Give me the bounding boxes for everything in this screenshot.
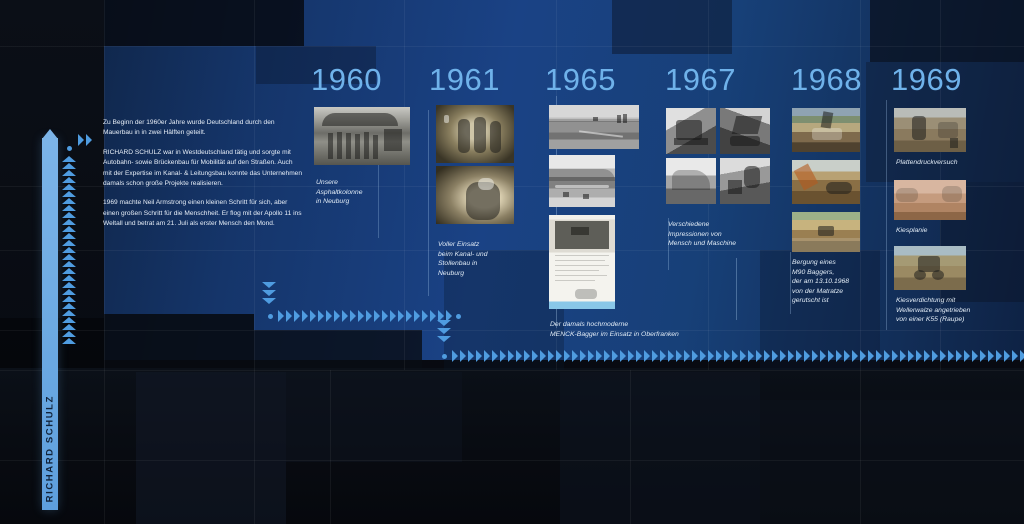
connector-line-1968 xyxy=(790,252,791,314)
chevron-right-icon xyxy=(500,350,506,362)
intro-paragraph-3: 1969 machte Neil Armstrong einen kleinen… xyxy=(103,198,303,229)
chevron-down-icon xyxy=(262,290,276,296)
chevron-right-icon xyxy=(764,350,770,362)
chevron-right-icon xyxy=(548,350,554,362)
chevron-up-icon xyxy=(62,191,76,197)
chevron-up-icon xyxy=(62,282,76,288)
chevron-right-icon xyxy=(628,350,634,362)
brand-bar-label: RICHARD SCHULZ xyxy=(45,395,56,502)
chevron-right-icon xyxy=(684,350,690,362)
chevron-right-icon xyxy=(940,350,946,362)
photo-1969-kiesverdichtung xyxy=(894,246,966,290)
chevron-right-icon xyxy=(868,350,874,362)
chevron-right-icon xyxy=(452,350,458,362)
chevron-right-icon xyxy=(692,350,698,362)
chevron-right-icon xyxy=(516,350,522,362)
connector-line-1967 xyxy=(736,258,737,320)
chevron-up-icon xyxy=(62,247,76,253)
chevron-right-icon xyxy=(406,310,412,322)
chevron-right-icon xyxy=(286,310,292,322)
photo-1967-d xyxy=(720,158,770,204)
caption-1965: Der damals hochmoderne MENCK-Bagger im E… xyxy=(550,320,740,339)
chevron-right-icon xyxy=(956,350,962,362)
chevron-right-icon xyxy=(476,350,482,362)
photo-1961-stollenbau-a xyxy=(436,105,514,163)
chevron-right-icon xyxy=(636,350,642,362)
chevron-up-icon xyxy=(62,219,76,225)
chevron-right-icon xyxy=(422,310,428,322)
intro-text-block: Zu Beginn der 1960er Jahre wurde Deutsch… xyxy=(103,118,303,239)
chevron-right-icon xyxy=(460,350,466,362)
chevron-right-icon xyxy=(302,310,308,322)
chevron-right-icon xyxy=(668,350,674,362)
chevron-right-icon xyxy=(700,350,706,362)
caption-1960: Unsere Asphaltkolonne in Neuburg xyxy=(316,178,416,207)
photo-1965-landschaft xyxy=(549,155,615,207)
chevron-up-icon xyxy=(62,303,76,309)
photo-1968-c xyxy=(792,212,860,252)
bg-panel xyxy=(560,372,760,524)
timeline-path-down-1 xyxy=(262,282,276,306)
chevron-right-icon xyxy=(900,350,906,362)
chevron-right-icon xyxy=(996,350,1002,362)
chevron-right-icon xyxy=(390,310,396,322)
year-label-1961: 1961 xyxy=(429,62,500,98)
chevron-right-icon xyxy=(294,310,300,322)
timeline-path-run-2 xyxy=(442,350,1024,362)
chevron-right-icon xyxy=(398,310,404,322)
chevron-up-icon xyxy=(62,170,76,176)
photo-1968-a xyxy=(792,108,860,152)
chevron-right-icon xyxy=(796,350,802,362)
chevron-up-icon xyxy=(62,233,76,239)
chevron-down-icon xyxy=(437,320,451,326)
chevron-right-icon xyxy=(948,350,954,362)
chevron-up-icon xyxy=(62,156,76,162)
photo-1969-plattendruckversuch xyxy=(894,108,966,152)
chevron-right-icon xyxy=(924,350,930,362)
chevron-right-icon xyxy=(732,350,738,362)
chevron-right-icon xyxy=(876,350,882,362)
year-label-1967: 1967 xyxy=(665,62,736,98)
photo-1967-c xyxy=(666,158,716,204)
year-label-1965: 1965 xyxy=(545,62,616,98)
chevron-right-icon xyxy=(1020,350,1024,362)
photo-1967-a xyxy=(666,108,716,154)
chevron-right-icon xyxy=(772,350,778,362)
chevron-up-icon xyxy=(62,184,76,190)
timeline-infographic: RICHARD SCHULZ Z xyxy=(0,0,1024,524)
chevron-right-icon xyxy=(1004,350,1010,362)
timeline-dot xyxy=(442,354,447,359)
chevron-right-icon xyxy=(358,310,364,322)
chevron-up-icon xyxy=(62,324,76,330)
timeline-dot xyxy=(456,314,461,319)
chevron-right-icon xyxy=(860,350,866,362)
chevron-right-icon xyxy=(756,350,762,362)
chevron-right-icon xyxy=(278,310,284,322)
chevron-right-icon xyxy=(580,350,586,362)
chevron-right-icon xyxy=(484,350,490,362)
chevron-down-icon xyxy=(437,328,451,334)
chevron-right-icon xyxy=(334,310,340,322)
chevron-right-icon xyxy=(326,310,332,322)
chevron-up-icon xyxy=(62,212,76,218)
chevron-up-icon xyxy=(62,254,76,260)
brand-bar-arrow-icon xyxy=(42,129,58,139)
chevron-right-icon xyxy=(892,350,898,362)
chevron-right-icon xyxy=(836,350,842,362)
caption-1961: Voller Einsatz beim Kanal- und Stollenba… xyxy=(438,240,548,278)
chevron-dot xyxy=(67,146,72,151)
chevron-right-icon xyxy=(468,350,474,362)
bg-panel xyxy=(286,372,462,462)
chevron-right-icon xyxy=(374,310,380,322)
chevron-right-icon xyxy=(524,350,530,362)
photo-1961-stollenbau-b xyxy=(436,166,514,224)
bg-panel xyxy=(870,0,1024,62)
chevron-right-icon xyxy=(980,350,986,362)
bg-panel xyxy=(136,372,286,524)
chevron-right-icon xyxy=(366,310,372,322)
chevron-up-icon xyxy=(62,289,76,295)
chevron-up-icon xyxy=(62,310,76,316)
chevron-right-icon xyxy=(350,310,356,322)
chevron-right-icon xyxy=(932,350,938,362)
year-label-1969: 1969 xyxy=(891,62,962,98)
timeline-dot xyxy=(268,314,273,319)
photo-1965-autobahn xyxy=(549,105,639,149)
chevron-right-icon xyxy=(318,310,324,322)
chevron-right-icon xyxy=(652,350,658,362)
chevron-right-icon xyxy=(556,350,562,362)
caption-1969-kiesplanie: Kiesplanie xyxy=(896,226,1016,236)
chevron-right-icon xyxy=(988,350,994,362)
chevron-right-icon xyxy=(508,350,514,362)
caption-1969-kiesverdichtung: Kiesverdichtung mit Wellerwalze angetrie… xyxy=(896,296,1020,325)
year-label-1960: 1960 xyxy=(311,62,382,98)
chevron-up-icon xyxy=(62,275,76,281)
chevron-up-icon xyxy=(62,338,76,344)
chevron-right-icon xyxy=(660,350,666,362)
chevron-right-icon xyxy=(78,134,84,146)
brand-bar-richard-schulz: RICHARD SCHULZ xyxy=(42,138,58,510)
chevron-right-icon xyxy=(916,350,922,362)
chevron-up-icon xyxy=(62,261,76,267)
chevron-right-icon xyxy=(430,310,436,322)
chevron-right-icon xyxy=(708,350,714,362)
chevron-right-icon xyxy=(1012,350,1018,362)
chevron-up-icon xyxy=(62,296,76,302)
chevron-up-icon xyxy=(62,331,76,337)
chevron-down-icon xyxy=(437,336,451,342)
chevron-right-icon xyxy=(604,350,610,362)
chevron-right-icon xyxy=(644,350,650,362)
chevron-right-icon xyxy=(804,350,810,362)
timeline-path-down-2 xyxy=(437,320,451,344)
chevron-right-icon xyxy=(844,350,850,362)
connector-line-1961 xyxy=(428,110,429,296)
caption-1967: Verschiedene Impressionen von Mensch und… xyxy=(668,220,788,249)
chevron-right-icon xyxy=(588,350,594,362)
intro-paragraph-2: RICHARD SCHULZ war in Westdeutschland tä… xyxy=(103,148,303,190)
photo-1968-b xyxy=(792,160,860,204)
chevron-right-icon xyxy=(964,350,970,362)
chevron-right-icon xyxy=(828,350,834,362)
chevron-right-icon xyxy=(86,134,92,146)
chevron-right-icon xyxy=(788,350,794,362)
chevron-up-icon xyxy=(62,268,76,274)
chevron-right-icon xyxy=(676,350,682,362)
intro-paragraph-1: Zu Beginn der 1960er Jahre wurde Deutsch… xyxy=(103,118,303,139)
chevron-right-icon xyxy=(820,350,826,362)
chevron-up-icon xyxy=(62,163,76,169)
photo-1967-b xyxy=(720,108,770,154)
chevron-right-icon xyxy=(780,350,786,362)
chevron-right-icon xyxy=(572,350,578,362)
caption-1969-plattendruckversuch: Plattendruckversuch xyxy=(896,158,1016,168)
chevron-right-icon xyxy=(540,350,546,362)
chevron-right-icon xyxy=(748,350,754,362)
chevron-right-icon xyxy=(812,350,818,362)
chevron-right-icon xyxy=(310,310,316,322)
chevron-right-icon xyxy=(596,350,602,362)
caption-1968: Bergung eines M90 Baggers, der am 13.10.… xyxy=(792,258,892,306)
chevron-right-icon xyxy=(492,350,498,362)
chevron-right-icon xyxy=(724,350,730,362)
chevron-down-icon xyxy=(262,282,276,288)
year-label-1968: 1968 xyxy=(791,62,862,98)
chevron-up-icon xyxy=(62,317,76,323)
chevron-right-icon xyxy=(908,350,914,362)
bg-panel xyxy=(104,0,304,46)
chevron-right-icon xyxy=(740,350,746,362)
chevron-right-icon xyxy=(414,310,420,322)
chevron-up-icon xyxy=(62,198,76,204)
chevron-right-icon xyxy=(382,310,388,322)
chevron-right-icon xyxy=(564,350,570,362)
chevron-up-icon xyxy=(62,205,76,211)
chevron-up-icon xyxy=(62,177,76,183)
chevron-right-icon xyxy=(716,350,722,362)
photo-1965-dokument xyxy=(549,215,615,309)
chevron-right-icon xyxy=(612,350,618,362)
chevron-right-icon xyxy=(620,350,626,362)
chevron-down-icon xyxy=(262,298,276,304)
chevron-right-icon xyxy=(972,350,978,362)
photo-1969-kiesplanie xyxy=(894,180,966,220)
chevron-right-icon xyxy=(342,310,348,322)
bg-panel xyxy=(760,400,1024,524)
intro-chevron-column xyxy=(62,146,76,345)
chevron-up-icon xyxy=(62,226,76,232)
chevron-up-icon xyxy=(62,240,76,246)
chevron-right-icon xyxy=(532,350,538,362)
photo-1960-asphaltkolonne xyxy=(314,107,410,165)
chevron-right-icon xyxy=(884,350,890,362)
chevron-right-icon xyxy=(852,350,858,362)
intro-chevron-right-pair xyxy=(78,134,94,146)
